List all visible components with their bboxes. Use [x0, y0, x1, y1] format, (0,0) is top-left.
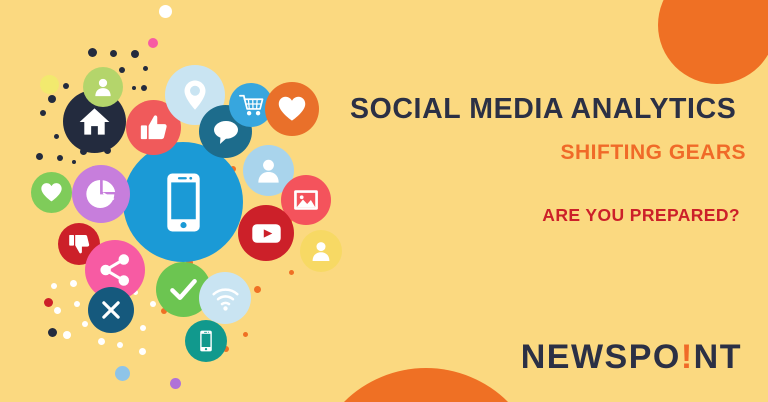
heart-icon — [277, 94, 307, 124]
decorative-dot — [254, 286, 261, 293]
shopping-cart-icon — [239, 93, 264, 118]
decorative-dot — [148, 38, 158, 48]
logo-text-part1: NEWSPO — [521, 340, 681, 374]
decorative-dot — [150, 301, 156, 307]
newspoint-logo: NEWSPO!NT — [521, 340, 742, 374]
icon-bubble-user — [83, 67, 123, 107]
decorative-dot — [170, 378, 181, 389]
decorative-dot — [48, 95, 56, 103]
phone-icon — [194, 329, 218, 353]
user-icon — [309, 239, 333, 263]
check-icon — [168, 274, 199, 305]
logo-text-part2: NT — [694, 340, 742, 374]
decorative-dot — [98, 338, 105, 345]
decorative-dot — [143, 66, 148, 71]
icon-bubble-pie-chart — [72, 165, 130, 223]
decorative-dot — [74, 301, 80, 307]
icon-bubble-phone — [185, 320, 227, 362]
decorative-dot — [40, 110, 46, 116]
top-right-orange-circle — [658, 0, 768, 84]
icon-bubble-heart — [265, 82, 319, 136]
decorative-dot — [141, 85, 147, 91]
icon-bubble-phone — [123, 142, 243, 262]
decorative-dot — [132, 86, 136, 90]
decorative-dot — [131, 50, 139, 58]
social-media-analytics-banner: SOCIAL MEDIA ANALYTICS SHIFTING GEARS AR… — [0, 0, 768, 402]
subtitle: SHIFTING GEARS — [350, 142, 750, 163]
share-icon — [98, 253, 132, 287]
decorative-dot — [159, 5, 172, 18]
icon-bubble-close-x — [88, 287, 134, 333]
decorative-dot — [110, 50, 117, 57]
thumbs-down-icon — [67, 232, 91, 256]
phone-icon — [150, 169, 217, 236]
decorative-dot — [289, 270, 294, 275]
decorative-dot — [54, 307, 61, 314]
user-icon — [92, 76, 114, 98]
decorative-dot — [40, 75, 59, 94]
decorative-dot — [72, 160, 76, 164]
decorative-dot — [243, 332, 248, 337]
decorative-dot — [63, 83, 69, 89]
decorative-dot — [44, 298, 53, 307]
heart-icon — [40, 181, 63, 204]
decorative-dot — [88, 48, 97, 57]
call-to-action-question: ARE YOU PREPARED? — [350, 207, 750, 225]
decorative-dot — [119, 67, 125, 73]
decorative-dot — [57, 155, 63, 161]
decorative-dot — [51, 283, 57, 289]
icon-bubble-youtube-play — [238, 205, 294, 261]
decorative-dot — [70, 280, 77, 287]
decorative-dot — [115, 366, 130, 381]
icon-bubble-user — [300, 230, 342, 272]
thumbs-up-icon — [138, 112, 169, 143]
decorative-dot — [54, 134, 59, 139]
wifi-icon — [211, 284, 240, 313]
decorative-dot — [48, 328, 57, 337]
decorative-dot — [139, 348, 146, 355]
home-icon — [77, 104, 112, 139]
page-title: SOCIAL MEDIA ANALYTICS — [350, 95, 750, 124]
map-pin-icon — [178, 78, 212, 112]
image-icon — [292, 186, 320, 214]
close-x-icon — [98, 297, 124, 323]
decorative-dot — [63, 331, 71, 339]
decorative-dot — [140, 325, 146, 331]
logo-exclamation-accent: ! — [681, 340, 694, 374]
youtube-play-icon — [251, 218, 282, 249]
decorative-dot — [117, 342, 123, 348]
decorative-dot — [36, 153, 43, 160]
user-icon — [254, 156, 283, 185]
icon-bubble-wifi — [199, 272, 251, 324]
pie-chart-icon — [85, 178, 117, 210]
headline-block: SOCIAL MEDIA ANALYTICS SHIFTING GEARS AR… — [350, 95, 750, 224]
decorative-dot — [82, 321, 88, 327]
icon-bubble-heart — [31, 172, 72, 213]
social-icon-cluster — [0, 0, 360, 402]
